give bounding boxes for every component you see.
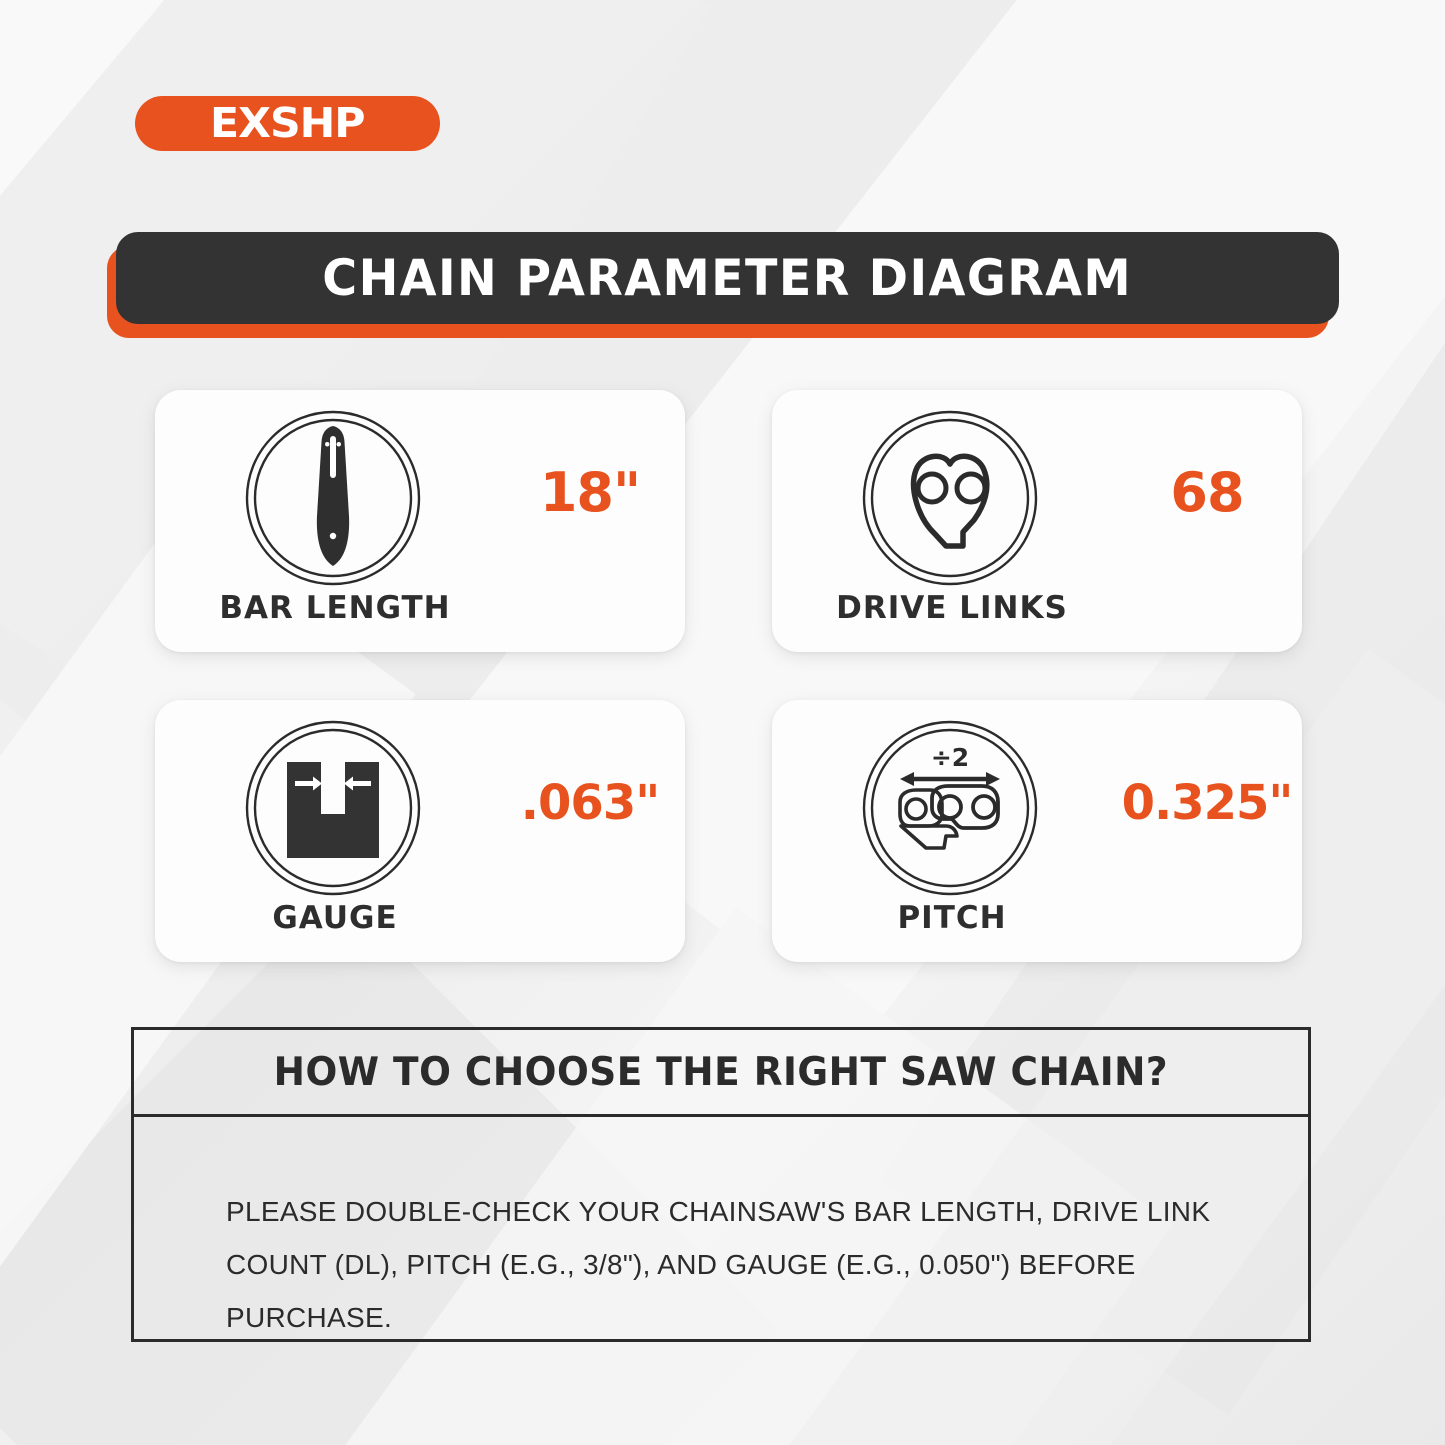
brand-logo-text: EXSHP — [210, 103, 364, 144]
card-label-drive-links: DRIVE LINKS — [772, 590, 1132, 626]
parameter-card-bar-length: BAR LENGTH 18" — [155, 390, 685, 652]
title-banner: CHAIN PARAMETER DIAGRAM — [107, 232, 1339, 340]
card-label-pitch: PITCH — [772, 900, 1132, 936]
gauge-groove-icon — [243, 718, 423, 898]
info-box-header: HOW TO CHOOSE THE RIGHT SAW CHAIN? — [134, 1030, 1308, 1117]
chain-pitch-icon: ÷2 — [860, 718, 1040, 898]
pitch-divide-label: ÷2 — [931, 743, 969, 772]
parameter-card-gauge: GAUGE .063" — [155, 700, 685, 962]
parameter-card-drive-links: DRIVE LINKS 68 — [772, 390, 1302, 652]
info-box-body: PLEASE DOUBLE-CHECK YOUR CHAINSAW'S BAR … — [134, 1117, 1308, 1344]
page-title: CHAIN PARAMETER DIAGRAM — [323, 253, 1133, 303]
card-label-bar-length: BAR LENGTH — [155, 590, 515, 626]
card-value-bar-length: 18" — [495, 390, 685, 595]
drive-link-icon — [860, 408, 1040, 588]
infographic-page: EXSHP CHAIN PARAMETER DIAGRAM BAR LENGT — [0, 0, 1445, 1445]
info-title: HOW TO CHOOSE THE RIGHT SAW CHAIN? — [274, 1050, 1169, 1095]
card-value-gauge: .063" — [495, 700, 685, 905]
brand-logo: EXSHP — [135, 96, 440, 151]
info-box: HOW TO CHOOSE THE RIGHT SAW CHAIN? PLEAS… — [131, 1027, 1311, 1342]
title-banner-body: CHAIN PARAMETER DIAGRAM — [116, 232, 1339, 324]
card-label-gauge: GAUGE — [155, 900, 515, 936]
chainsaw-bar-icon — [243, 408, 423, 588]
card-value-pitch: 0.325" — [1112, 700, 1302, 905]
parameter-card-pitch: ÷2 PITCH 0.325" — [772, 700, 1302, 962]
card-value-drive-links: 68 — [1112, 390, 1302, 595]
info-body-text: PLEASE DOUBLE-CHECK YOUR CHAINSAW'S BAR … — [226, 1185, 1216, 1344]
